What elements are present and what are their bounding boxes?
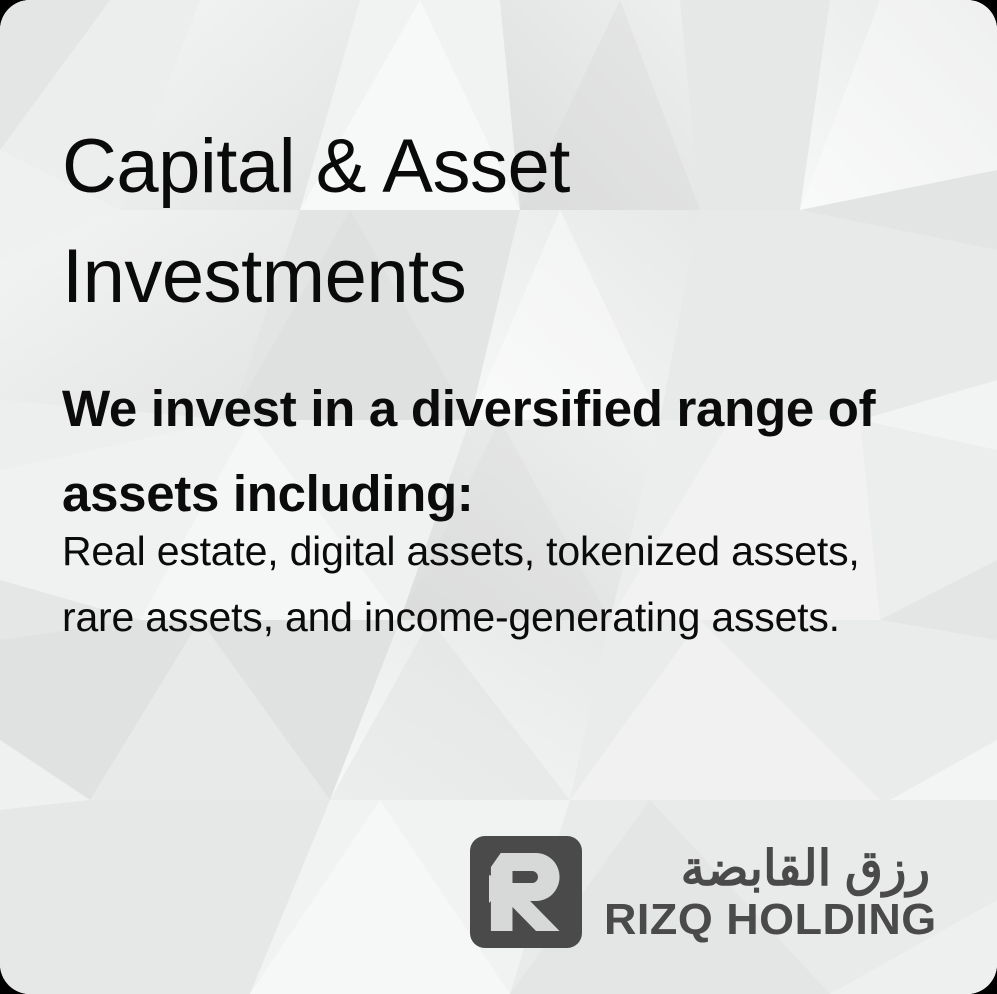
rizq-r-monogram-icon <box>470 836 582 948</box>
promo-card: Capital & Asset Investments We invest in… <box>0 0 997 994</box>
page-title: Capital & Asset Investments <box>62 112 962 332</box>
brand-name-english: RIZQ HOLDING <box>604 897 937 943</box>
subheading: We invest in a diversified range of asse… <box>62 366 982 536</box>
card-content: Capital & Asset Investments We invest in… <box>0 0 997 994</box>
brand-logo-lockup: رزق القابضة RIZQ HOLDING <box>470 832 948 952</box>
body-text: Real estate, digital assets, tokenized a… <box>62 518 982 650</box>
brand-name-arabic: رزق القابضة <box>604 843 930 895</box>
brand-wordmark: رزق القابضة RIZQ HOLDING <box>604 841 930 943</box>
